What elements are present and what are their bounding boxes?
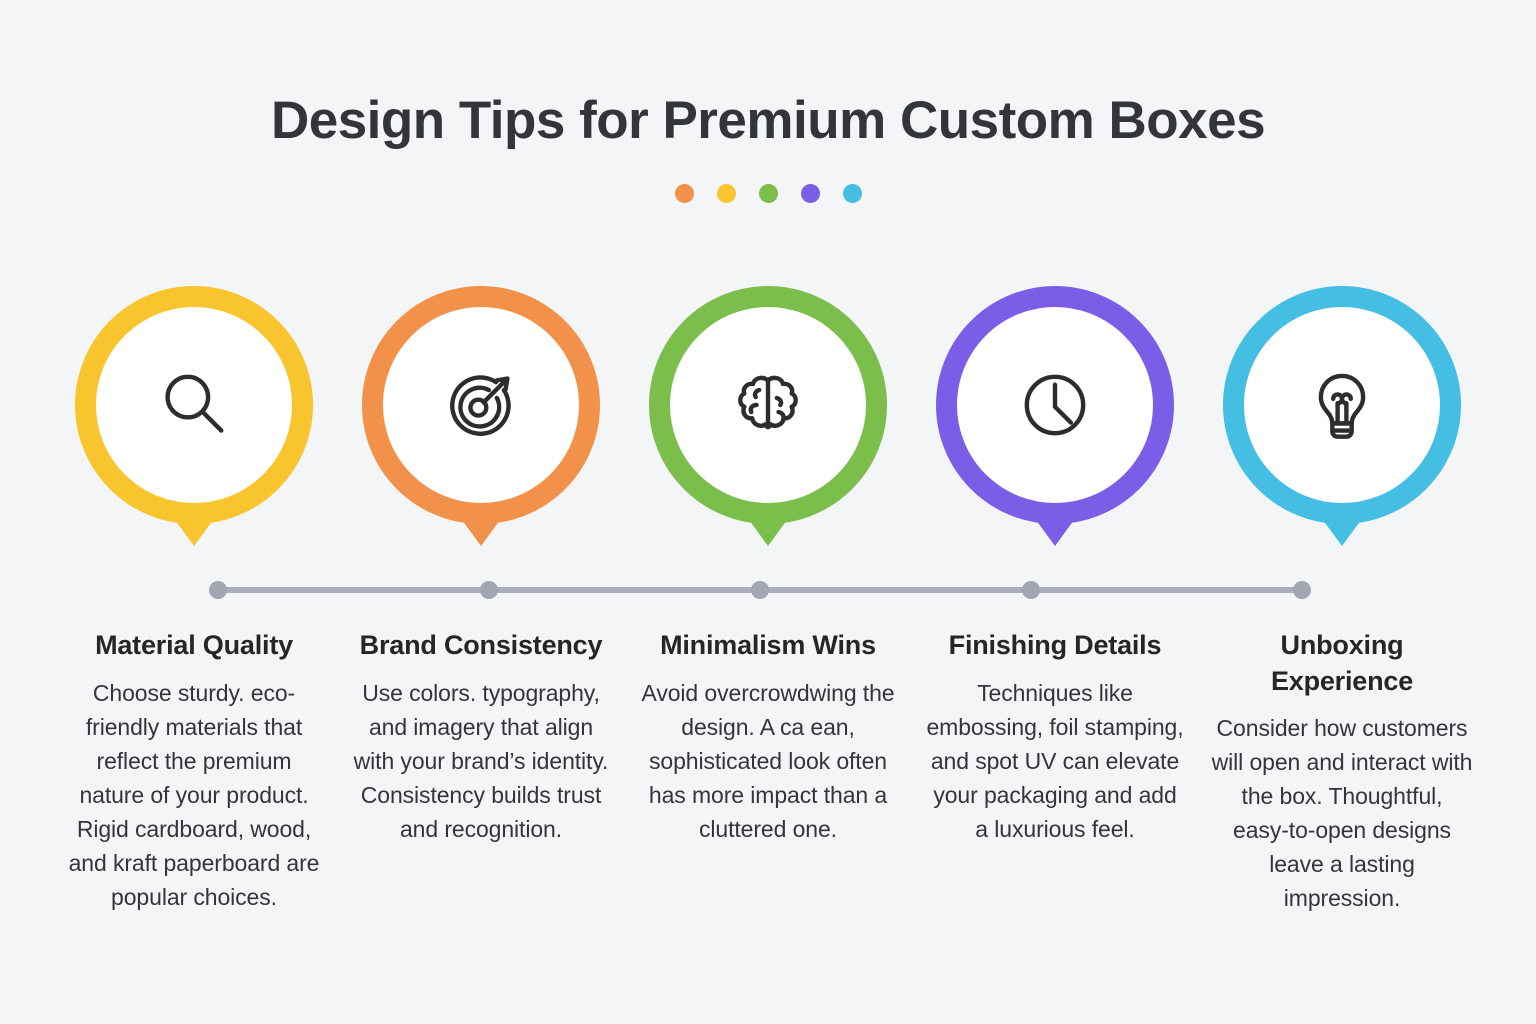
step-text-material-quality: Material Quality Choose sturdy. eco-frie… bbox=[63, 628, 325, 915]
step-marker-brand-consistency[interactable] bbox=[350, 286, 612, 524]
step-body: Use colors. typography, and imagery that… bbox=[350, 676, 612, 846]
marker-pin bbox=[936, 286, 1174, 524]
step-body: Avoid overcrowdwing the design. A ca ean… bbox=[637, 676, 899, 846]
target-arrow-icon bbox=[437, 361, 525, 449]
timeline-node bbox=[751, 581, 769, 599]
step-body: Consider how customers will open and int… bbox=[1211, 711, 1473, 915]
marker-ring bbox=[936, 286, 1174, 524]
header: Design Tips for Premium Custom Boxes bbox=[0, 0, 1536, 203]
step-title: Unboxing Experience bbox=[1211, 628, 1473, 699]
step-text-finishing-details: Finishing Details Techniques like emboss… bbox=[924, 628, 1186, 915]
timeline-node bbox=[1022, 581, 1040, 599]
step-marker-row bbox=[0, 286, 1536, 524]
accent-dot-purple bbox=[801, 184, 820, 203]
step-marker-unboxing-experience[interactable] bbox=[1211, 286, 1473, 524]
step-marker-material-quality[interactable] bbox=[63, 286, 325, 524]
step-body: Techniques like embossing, foil stamping… bbox=[924, 676, 1186, 846]
marker-tail bbox=[175, 520, 213, 546]
clock-icon bbox=[1011, 361, 1099, 449]
infographic-page: Design Tips for Premium Custom Boxes bbox=[0, 0, 1536, 1024]
lightbulb-icon bbox=[1298, 361, 1386, 449]
step-title: Material Quality bbox=[63, 628, 325, 664]
step-text-brand-consistency: Brand Consistency Use colors. typography… bbox=[350, 628, 612, 915]
step-text-minimalism-wins: Minimalism Wins Avoid overcrowdwing the … bbox=[637, 628, 899, 915]
step-marker-minimalism-wins[interactable] bbox=[637, 286, 899, 524]
marker-tail bbox=[1036, 520, 1074, 546]
step-text-unboxing-experience: Unboxing Experience Consider how custome… bbox=[1211, 628, 1473, 915]
step-marker-finishing-details[interactable] bbox=[924, 286, 1186, 524]
marker-pin bbox=[1223, 286, 1461, 524]
timeline-node bbox=[1293, 581, 1311, 599]
accent-dot-green bbox=[759, 184, 778, 203]
accent-dot-orange bbox=[675, 184, 694, 203]
marker-ring bbox=[362, 286, 600, 524]
magnifier-icon bbox=[150, 361, 238, 449]
marker-ring bbox=[649, 286, 887, 524]
step-text-row: Material Quality Choose sturdy. eco-frie… bbox=[0, 628, 1536, 915]
marker-pin bbox=[649, 286, 887, 524]
timeline-node bbox=[209, 581, 227, 599]
accent-dot-yellow bbox=[717, 184, 736, 203]
brain-icon bbox=[724, 361, 812, 449]
step-body: Choose sturdy. eco-friendly materials th… bbox=[63, 676, 325, 914]
timeline-node bbox=[480, 581, 498, 599]
page-title: Design Tips for Premium Custom Boxes bbox=[0, 92, 1536, 150]
marker-ring bbox=[1223, 286, 1461, 524]
timeline-connector bbox=[210, 581, 1310, 599]
marker-tail bbox=[749, 520, 787, 546]
accent-dot-blue bbox=[843, 184, 862, 203]
marker-pin bbox=[362, 286, 600, 524]
marker-ring bbox=[75, 286, 313, 524]
step-title: Finishing Details bbox=[924, 628, 1186, 664]
step-title: Minimalism Wins bbox=[637, 628, 899, 664]
step-title: Brand Consistency bbox=[350, 628, 612, 664]
accent-dot-row bbox=[0, 184, 1536, 203]
marker-pin bbox=[75, 286, 313, 524]
marker-tail bbox=[462, 520, 500, 546]
marker-tail bbox=[1323, 520, 1361, 546]
